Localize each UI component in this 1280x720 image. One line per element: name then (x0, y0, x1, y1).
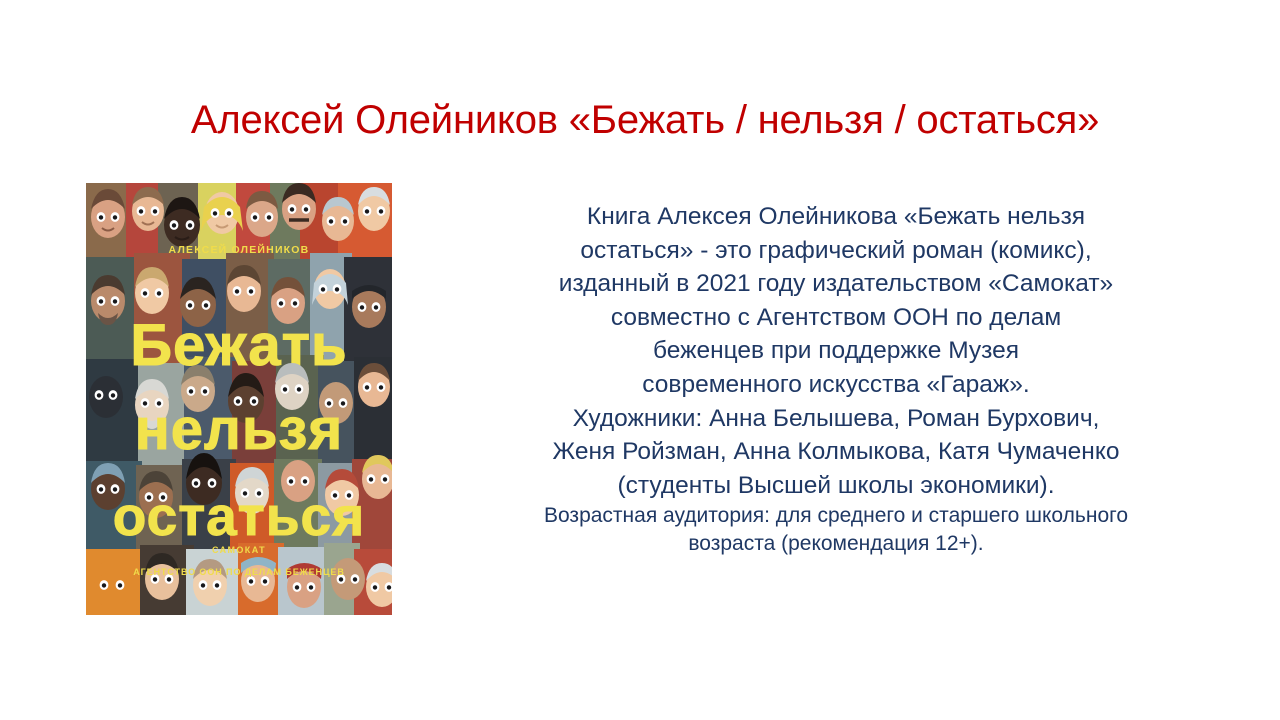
crowd-face (89, 376, 123, 418)
cover-partner-text: АГЕНТСТВО ООН ПО ДЕЛАМ БЕЖЕНЦЕВ (133, 567, 344, 577)
crowd-face (358, 187, 390, 231)
page-title: Алексей Олейников «Бежать / нельзя / ост… (60, 97, 1230, 143)
crowd-face (246, 191, 278, 237)
crowd-face (91, 189, 125, 238)
text-line: Возрастная аудитория: для среднего и ста… (462, 502, 1210, 530)
description-paragraph: Книга Алексея Олейникова «Бежать нельзя … (462, 200, 1210, 502)
cover-title-word-1: Бежать (130, 313, 347, 378)
text-line: беженцев при поддержке Музея (462, 334, 1210, 368)
cover-author-text: АЛЕКСЕЙ ОЛЕЙНИКОВ (169, 243, 310, 256)
crowd-face (227, 265, 261, 312)
text-line: возраста (рекомендация 12+). (462, 530, 1210, 558)
text-line: современного искусства «Гараж». (462, 368, 1210, 402)
text-line: Художники: Анна Белышева, Роман Бурхович… (462, 402, 1210, 436)
book-cover-illustration: АЛЕКСЕЙ ОЛЕЙНИКОВ (86, 183, 392, 615)
slide: Алексей Олейников «Бежать / нельзя / ост… (0, 0, 1280, 720)
text-line: Книга Алексея Олейникова «Бежать нельзя (462, 200, 1210, 234)
cover-title-word-3: остаться (113, 485, 365, 547)
crowd-face (135, 267, 169, 314)
text-line: Женя Ройзман, Анна Колмыкова, Катя Чумач… (462, 435, 1210, 469)
cover-publisher-text: САМОКАТ (212, 545, 266, 555)
text-line: (студенты Высшей школы экономики). (462, 469, 1210, 503)
crowd-face (132, 187, 164, 231)
crowd-face (352, 285, 386, 328)
crowd-face (322, 197, 354, 241)
cover-title-word-2: нельзя (135, 397, 343, 462)
body-text-block: Книга Алексея Олейникова «Бежать нельзя … (462, 200, 1210, 558)
crowd-face (358, 363, 390, 407)
crowd-face (164, 197, 200, 247)
crowd-face (362, 455, 392, 499)
text-line: остаться» - это графический роман (комик… (462, 234, 1210, 268)
book-cover-image: АЛЕКСЕЙ ОЛЕЙНИКОВ (86, 183, 392, 615)
age-audience-paragraph: Возрастная аудитория: для среднего и ста… (462, 502, 1210, 558)
crowd-face (282, 183, 316, 230)
text-line: совместно с Агентством ООН по делам (462, 301, 1210, 335)
text-line: изданный в 2021 году издательством «Само… (462, 267, 1210, 301)
crowd-face (331, 558, 365, 600)
